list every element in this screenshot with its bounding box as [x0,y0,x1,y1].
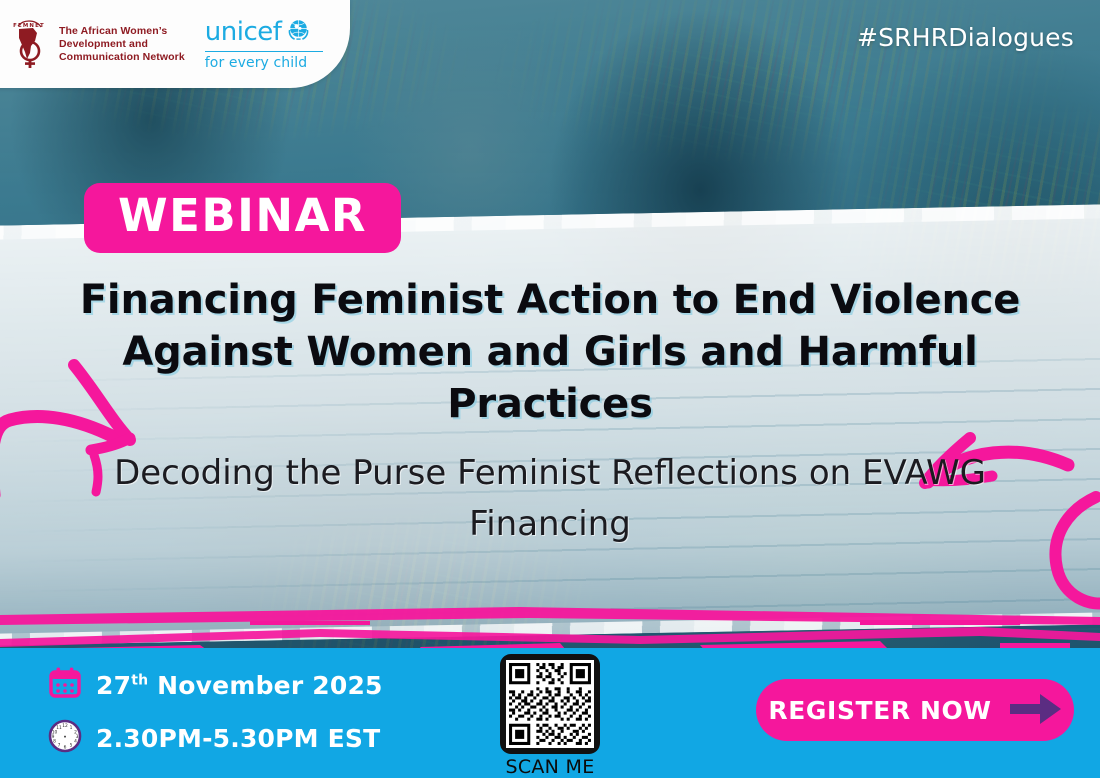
unicef-globe-emblem-icon [286,17,311,47]
svg-text:6: 6 [64,744,67,750]
svg-text:5: 5 [70,742,73,748]
femnet-name: The African Women’s Development and Comm… [59,25,185,64]
unicef-wordmark: unicef [205,19,282,45]
femnet-name-line-1: The African Women’s [59,25,185,38]
svg-text:4: 4 [74,739,77,745]
svg-text:12: 12 [62,723,68,729]
hashtag: #SRHRDialogues [857,23,1074,52]
svg-text:1: 1 [70,725,73,731]
femnet-africa-mark-icon: FEMNET [6,18,52,70]
femnet-logo: FEMNET The African Women’s Development a… [6,18,185,70]
event-time-row: 1212 345 678 91011 2.30PM-5.30PM EST [48,719,383,758]
svg-text:7: 7 [58,742,61,748]
femnet-name-line-3: Communication Network [59,51,185,64]
qr-code-block[interactable]: SCAN ME [500,654,600,778]
femnet-name-line-2: Development and [59,38,185,51]
svg-text:11: 11 [56,725,62,731]
unicef-wordmark-row: unicef [205,17,323,47]
register-now-button[interactable]: REGISTER NOW [756,679,1074,741]
logo-bar: FEMNET The African Women’s Development a… [0,0,350,88]
page-title: Financing Feminist Action to End Violenc… [60,274,1040,430]
event-date-row: 27th November 2025 [48,666,383,705]
qr-caption: SCAN ME [505,756,594,778]
register-now-label: REGISTER NOW [768,696,991,725]
qr-code-pattern [506,660,594,748]
unicef-tagline: for every child [205,55,323,71]
event-meta: 27th November 2025 1212 345 678 91011 [48,666,383,758]
qr-code[interactable] [500,654,600,754]
webinar-flyer: FEMNET The African Women’s Development a… [0,0,1100,778]
webinar-badge: WEBINAR [84,183,401,253]
arrow-right-icon [1010,691,1062,730]
page-subtitle: Decoding the Purse Feminist Reflections … [90,448,1010,550]
event-date: 27th November 2025 [96,671,383,700]
unicef-divider [205,51,323,52]
clock-icon: 1212 345 678 91011 [48,719,82,758]
event-time: 2.30PM-5.30PM EST [96,724,380,753]
unicef-logo: unicef for every child [201,17,323,71]
svg-text:FEMNET: FEMNET [13,23,45,29]
footer-bar: 27th November 2025 1212 345 678 91011 [0,648,1100,778]
calendar-icon [48,666,82,705]
